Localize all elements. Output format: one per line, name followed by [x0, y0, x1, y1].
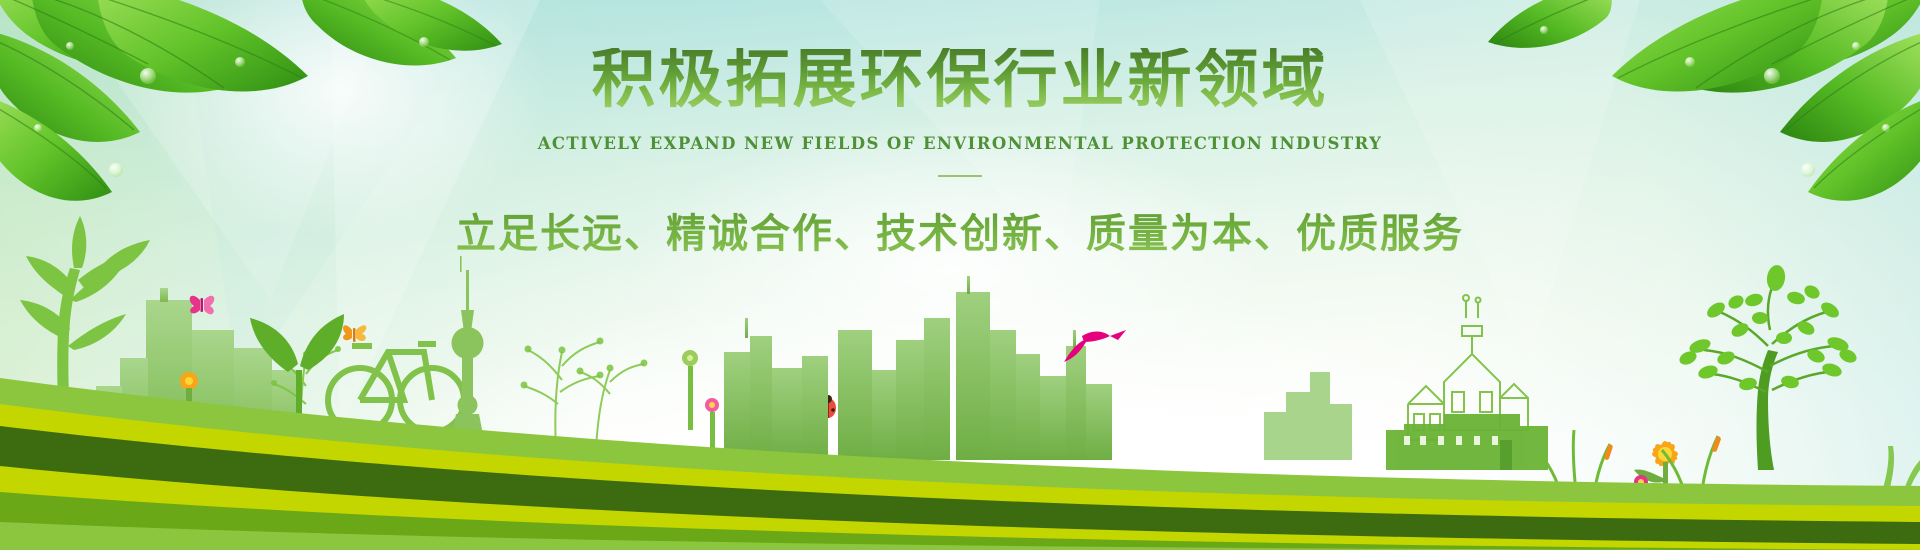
- leaf-cluster-top-right: [1488, 0, 1920, 201]
- leaf-decorations: [0, 0, 1920, 260]
- eco-banner: 积极拓展环保行业新领域 ACTIVELY EXPAND NEW FIELDS O…: [0, 0, 1920, 550]
- leaf-cluster-top-mid-left: [300, 0, 502, 65]
- green-wave-bands: [0, 300, 1920, 550]
- leaf-cluster-top-left: [0, 0, 308, 201]
